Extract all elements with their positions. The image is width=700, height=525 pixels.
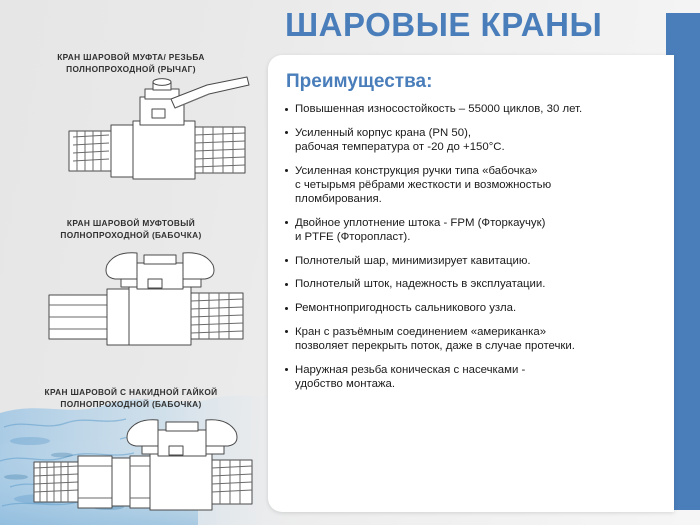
ball-valve-butterfly-drawing [0, 241, 262, 349]
list-item: Полнотелый шар, минимизирует кавитацию. [284, 254, 660, 268]
list-item: Наружная резьба коническая с насечками -… [284, 363, 660, 391]
list-item: Полнотелый шток, надежность в эксплуатац… [284, 277, 660, 291]
page-title: ШАРОВЫЕ КРАНЫ [285, 6, 602, 44]
advantages-heading: Преимущества: [286, 71, 660, 93]
slide-root: ШАРОВЫЕ КРАНЫ КРАН ШАРОВОЙ МУФТА/ РЕЗЬБА… [0, 0, 700, 525]
list-item: Усиленная конструкция ручки типа «бабочк… [284, 164, 660, 207]
product-block-union-nut: КРАН ШАРОВОЙ С НАКИДНОЙ ГАЙКОЙ ПОЛНОПРОХ… [0, 387, 262, 515]
list-item: Усиленный корпус крана (PN 50), рабочая … [284, 126, 660, 154]
product-block-butterfly: КРАН ШАРОВОЙ МУФТОВЫЙ ПОЛНОПРОХОДНОЙ (БА… [0, 218, 262, 349]
product-caption: КРАН ШАРОВОЙ МУФТОВЫЙ ПОЛНОПРОХОДНОЙ (БА… [0, 218, 262, 241]
product-caption: КРАН ШАРОВОЙ С НАКИДНОЙ ГАЙКОЙ ПОЛНОПРОХ… [0, 387, 262, 410]
advantages-list: Повышенная износостойкость – 55000 цикло… [284, 102, 660, 391]
list-item: Ремонтнопригодность сальникового узла. [284, 301, 660, 315]
product-caption: КРАН ШАРОВОЙ МУФТА/ РЕЗЬБА ПОЛНОПРОХОДНО… [0, 52, 262, 75]
product-block-lever: КРАН ШАРОВОЙ МУФТА/ РЕЗЬБА ПОЛНОПРОХОДНО… [0, 52, 262, 180]
list-item: Кран с разъёмным соединением «американка… [284, 325, 660, 353]
ball-valve-union-nut-butterfly-drawing [0, 410, 262, 515]
advantages-panel: Преимущества: Повышенная износостойкость… [268, 55, 674, 512]
list-item: Повышенная износостойкость – 55000 цикло… [284, 102, 660, 116]
list-item: Двойное уплотнение штока - FPM (Фторкауч… [284, 216, 660, 244]
ball-valve-lever-drawing [0, 75, 262, 180]
